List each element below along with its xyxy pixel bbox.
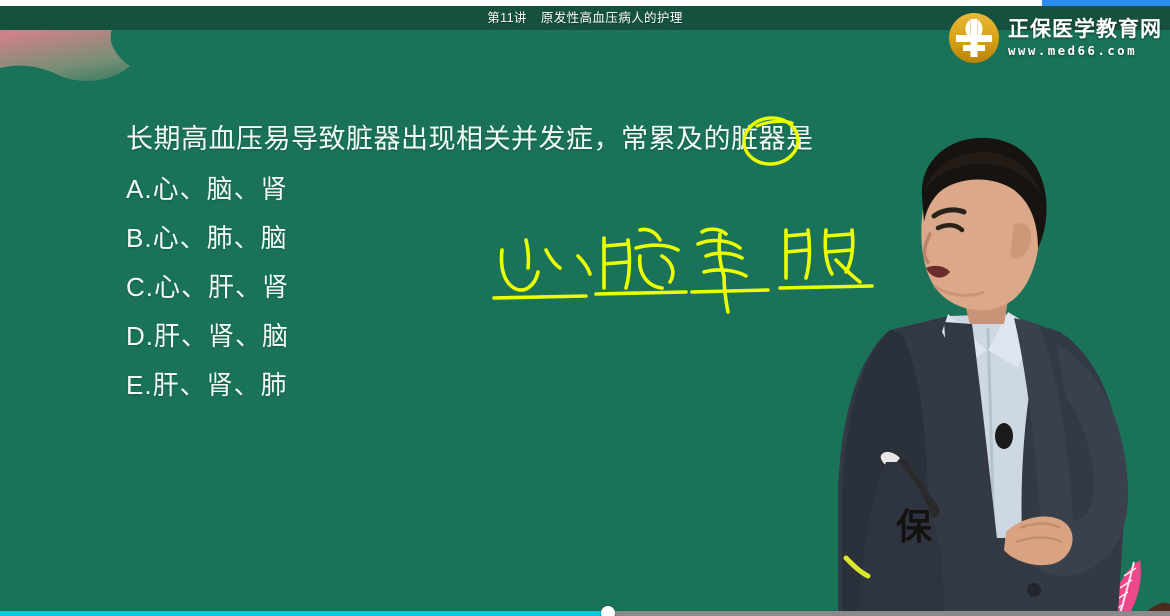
blob-decoration-top-left [0,30,240,110]
browser-top-strip [0,0,1170,6]
brand-logo[interactable]: 正保医学教育网 www.med66.com [948,8,1164,68]
video-progress-track[interactable] [0,611,1170,616]
lecture-title: 原发性高血压病人的护理 [541,11,683,25]
heart-decoration-character: 保 [896,498,932,550]
video-progress-fill [0,611,608,616]
video-seek-handle[interactable] [601,606,615,616]
options-list: A.心、脑、肾 B.心、肺、脑 C.心、肝、肾 D.肝、肾、脑 E.肝、肾、肺 [126,176,289,421]
stray-ink-mark [840,552,880,582]
circle-annotation-icon [740,114,804,166]
question-text: 长期高血压易导致脏器出现相关并发症，常累及的脏器是 [126,126,814,153]
option-a[interactable]: A.心、脑、肾 [126,176,289,202]
handwritten-annotation [480,216,880,336]
option-d[interactable]: D.肝、肾、脑 [126,323,289,349]
browser-scrollbar-thumb[interactable] [1042,0,1170,6]
brand-url: www.med66.com [1008,43,1162,58]
option-e[interactable]: E.肝、肾、肺 [126,372,289,398]
brand-text-block: 正保医学教育网 www.med66.com [1008,18,1162,58]
video-player-stage: 长期高血压易导致脏器出现相关并发症，常累及的脏器是 A.心、脑、肾 B.心、肺、… [0,0,1170,616]
lecture-slide-board: 长期高血压易导致脏器出现相关并发症，常累及的脏器是 A.心、脑、肾 B.心、肺、… [0,30,1170,616]
medical-cross-circle-icon [948,12,1000,64]
option-b[interactable]: B.心、肺、脑 [126,225,289,251]
brand-name: 正保医学教育网 [1008,18,1162,40]
lecture-number: 第11讲 [487,11,527,25]
option-c[interactable]: C.心、肝、肾 [126,274,289,300]
presenter-figure [838,118,1170,616]
